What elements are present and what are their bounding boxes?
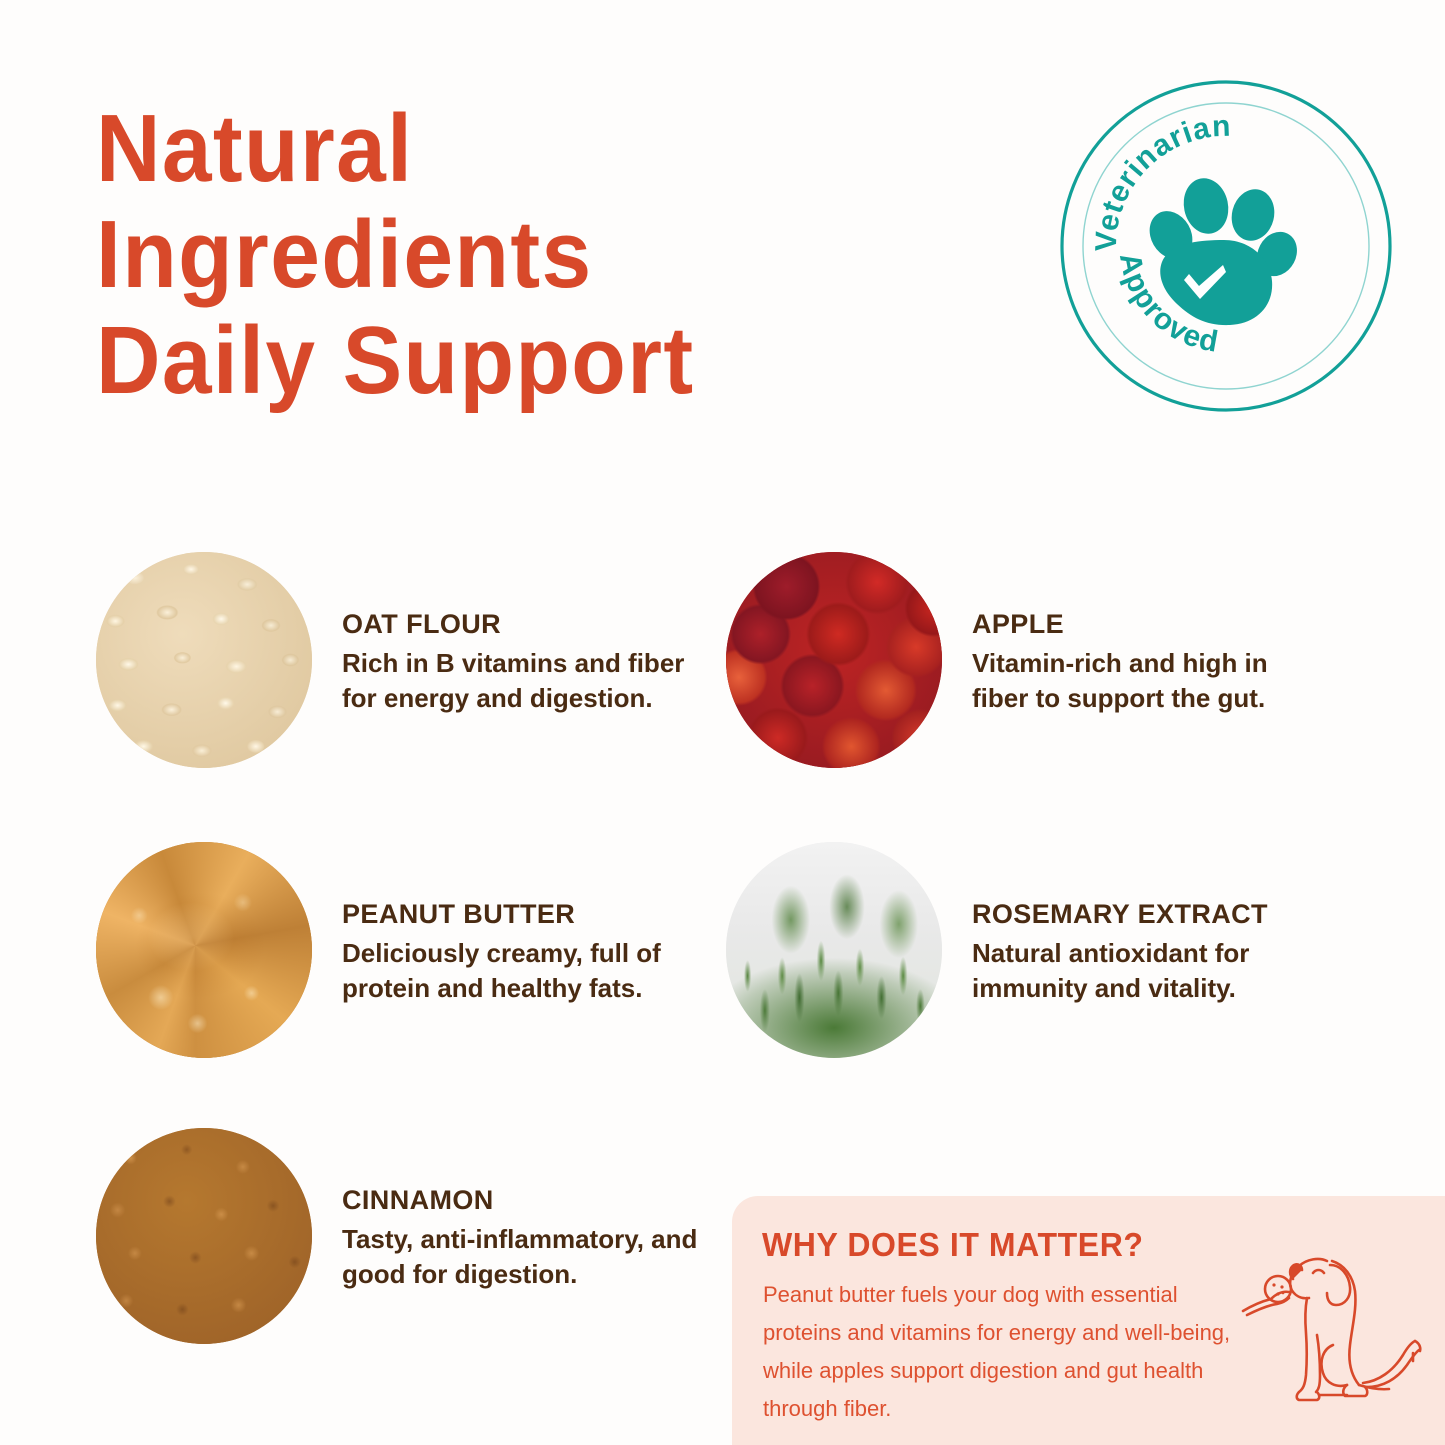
ingredient-name: APPLE (972, 607, 1302, 641)
dog-with-treat-icon (1237, 1235, 1437, 1421)
ingredient-name: CINNAMON (342, 1183, 702, 1217)
ingredient-item-oat-flour: OAT FLOUR Rich in B vitamins and fiber f… (96, 552, 716, 768)
oat-flakes-photo (96, 552, 312, 768)
page-title-line-2: Ingredients (96, 202, 877, 308)
ingredient-name: OAT FLOUR (342, 607, 702, 641)
ingredient-description: Tasty, anti-inflammatory, and good for d… (342, 1222, 702, 1292)
ingredient-item-apple: APPLE Vitamin-rich and high in fiber to … (726, 552, 1366, 768)
ingredient-description: Vitamin-rich and high in fiber to suppor… (972, 646, 1302, 716)
why-panel-title: WHY DOES IT MATTER? (762, 1226, 1144, 1264)
page-title-line-1: Natural (96, 96, 877, 202)
ingredient-text: PEANUT BUTTER Deliciously creamy, full o… (342, 895, 702, 1006)
peanut-butter-photo (96, 842, 312, 1058)
ingredient-text: CINNAMON Tasty, anti-inflammatory, and g… (342, 1181, 702, 1292)
ingredient-description: Natural antioxidant for immunity and vit… (972, 936, 1302, 1006)
ingredient-text: ROSEMARY EXTRACT Natural antioxidant for… (972, 895, 1302, 1006)
cinnamon-powder-photo (96, 1128, 312, 1344)
red-apples-photo (726, 552, 942, 768)
infographic-page: Natural Ingredients Daily Support Veteri… (0, 0, 1445, 1445)
why-does-it-matter-panel: WHY DOES IT MATTER? Peanut butter fuels … (732, 1196, 1445, 1445)
ingredient-text: OAT FLOUR Rich in B vitamins and fiber f… (342, 605, 702, 716)
why-panel-body: Peanut butter fuels your dog with essent… (763, 1276, 1233, 1428)
ingredient-name: ROSEMARY EXTRACT (972, 897, 1302, 931)
ingredient-description: Deliciously creamy, full of protein and … (342, 936, 702, 1006)
ingredient-name: PEANUT BUTTER (342, 897, 702, 931)
ingredient-item-cinnamon: CINNAMON Tasty, anti-inflammatory, and g… (96, 1128, 716, 1344)
veterinarian-approved-badge: Veterinarian Approved (1058, 78, 1394, 414)
ingredient-item-rosemary-extract: ROSEMARY EXTRACT Natural antioxidant for… (726, 842, 1366, 1058)
ingredient-item-peanut-butter: PEANUT BUTTER Deliciously creamy, full o… (96, 842, 716, 1058)
ingredient-description: Rich in B vitamins and fiber for energy … (342, 646, 702, 716)
page-title-line-3: Daily Support (96, 308, 877, 414)
page-title: Natural Ingredients Daily Support (96, 96, 936, 414)
ingredient-text: APPLE Vitamin-rich and high in fiber to … (972, 605, 1302, 716)
rosemary-sprigs-photo (726, 842, 942, 1058)
